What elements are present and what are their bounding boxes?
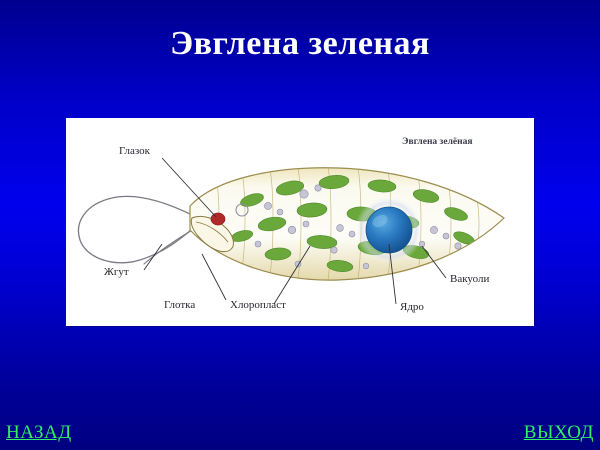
- flagellum-shape: [78, 196, 196, 264]
- label-gullet: Глотка: [164, 299, 195, 311]
- euglena-diagram: Эвглена зелёная Глазок Жгут Глотка Хлоро…: [66, 118, 534, 326]
- label-vacuoles: Вакуоли: [450, 273, 489, 285]
- nav-back-link[interactable]: НАЗАД: [6, 422, 72, 444]
- label-nucleus: Ядро: [400, 301, 424, 313]
- label-flagellum: Жгут: [104, 266, 129, 278]
- figure-caption: Эвглена зелёная: [402, 137, 473, 147]
- nucleus-shape: [355, 196, 423, 264]
- eyespot-shape: [211, 213, 225, 225]
- label-eyespot: Глазок: [119, 145, 151, 157]
- figure-panel: Эвглена зелёная Глазок Жгут Глотка Хлоро…: [66, 118, 534, 326]
- slide-canvas: Эвглена зеленая: [0, 0, 600, 450]
- page-title: Эвглена зеленая: [0, 24, 600, 64]
- label-chloroplast: Хлоропласт: [230, 299, 286, 311]
- nav-exit-link[interactable]: ВЫХОД: [524, 422, 594, 444]
